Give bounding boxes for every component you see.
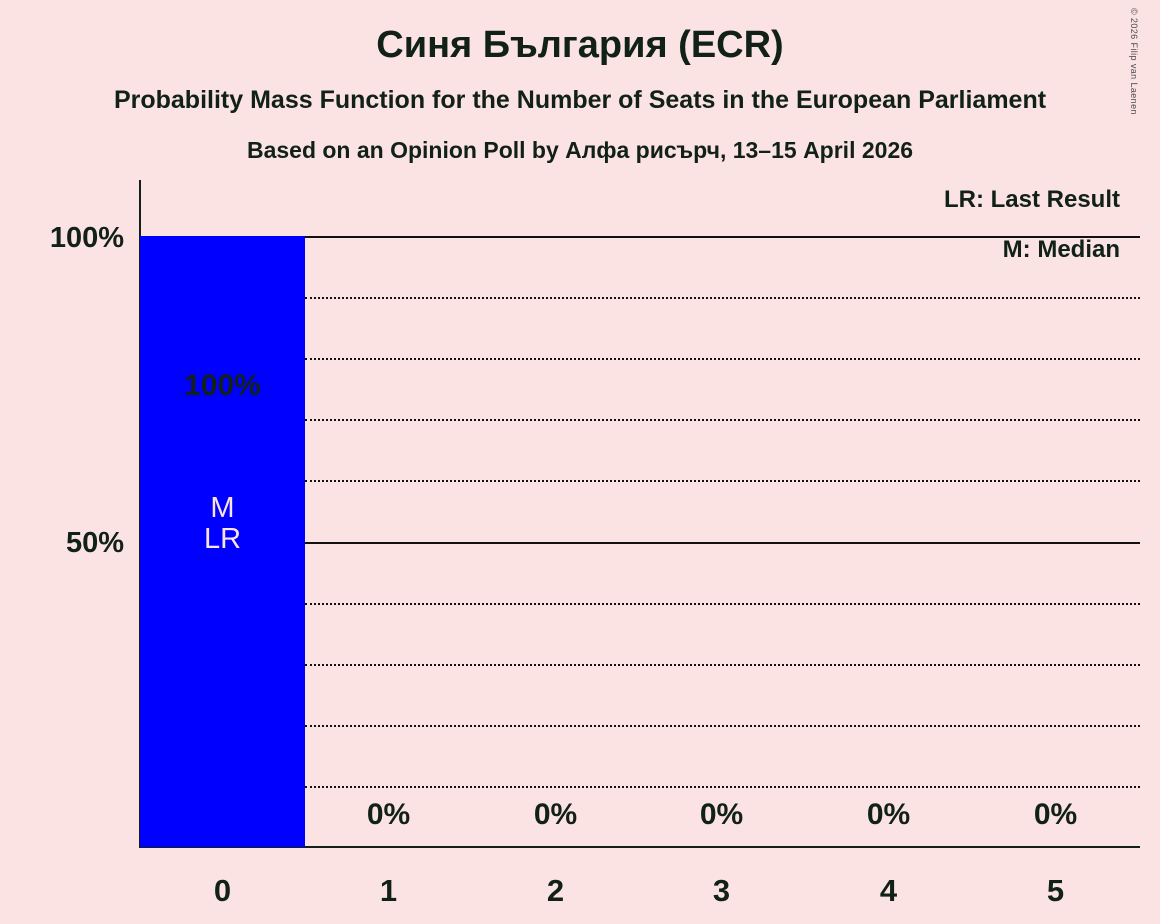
y-axis-tick-50: 50% xyxy=(0,529,124,558)
y-axis-tick-100: 100% xyxy=(0,224,124,253)
gridline-50 xyxy=(305,542,1140,544)
bar-value-label-3: 0% xyxy=(639,800,804,830)
copyright-notice: © 2026 Filip van Laenen xyxy=(1129,8,1139,138)
x-axis-tick-0: 0 xyxy=(140,875,305,906)
x-axis-tick-4: 4 xyxy=(806,875,971,906)
chart-container: Синя България (ECR) Probability Mass Fun… xyxy=(0,0,1160,924)
chart-subtitle: Probability Mass Function for the Number… xyxy=(0,88,1160,113)
chart-source-line: Based on an Opinion Poll by Алфа рисърч,… xyxy=(0,139,1160,162)
x-axis-tick-3: 3 xyxy=(639,875,804,906)
gridline-40 xyxy=(305,603,1140,605)
legend-last-result: LR: Last Result xyxy=(944,188,1120,212)
gridline-80 xyxy=(305,358,1140,360)
bar-value-label-2: 0% xyxy=(473,800,638,830)
bar-value-label-1: 0% xyxy=(306,800,471,830)
plot-area: 100% M LR 0% 0% 0% 0% 0% LR: Last Result… xyxy=(139,180,1140,848)
gridline-10 xyxy=(305,786,1140,788)
last-result-marker: LR xyxy=(140,524,305,555)
x-axis-tick-5: 5 xyxy=(973,875,1138,906)
gridline-30 xyxy=(305,664,1140,666)
gridline-60 xyxy=(305,480,1140,482)
gridline-70 xyxy=(305,419,1140,421)
x-axis-tick-1: 1 xyxy=(306,875,471,906)
median-marker: M xyxy=(140,493,305,524)
chart-title: Синя България (ECR) xyxy=(0,26,1160,64)
x-axis-tick-2: 2 xyxy=(473,875,638,906)
gridline-90 xyxy=(305,297,1140,299)
bar-value-label-4: 0% xyxy=(806,800,971,830)
gridline-20 xyxy=(305,725,1140,727)
bar-value-label-5: 0% xyxy=(973,800,1138,830)
bar-marker-labels-0: M LR xyxy=(140,493,305,555)
legend-median: M: Median xyxy=(1003,238,1120,262)
bar-value-label-0: 100% xyxy=(140,371,305,401)
